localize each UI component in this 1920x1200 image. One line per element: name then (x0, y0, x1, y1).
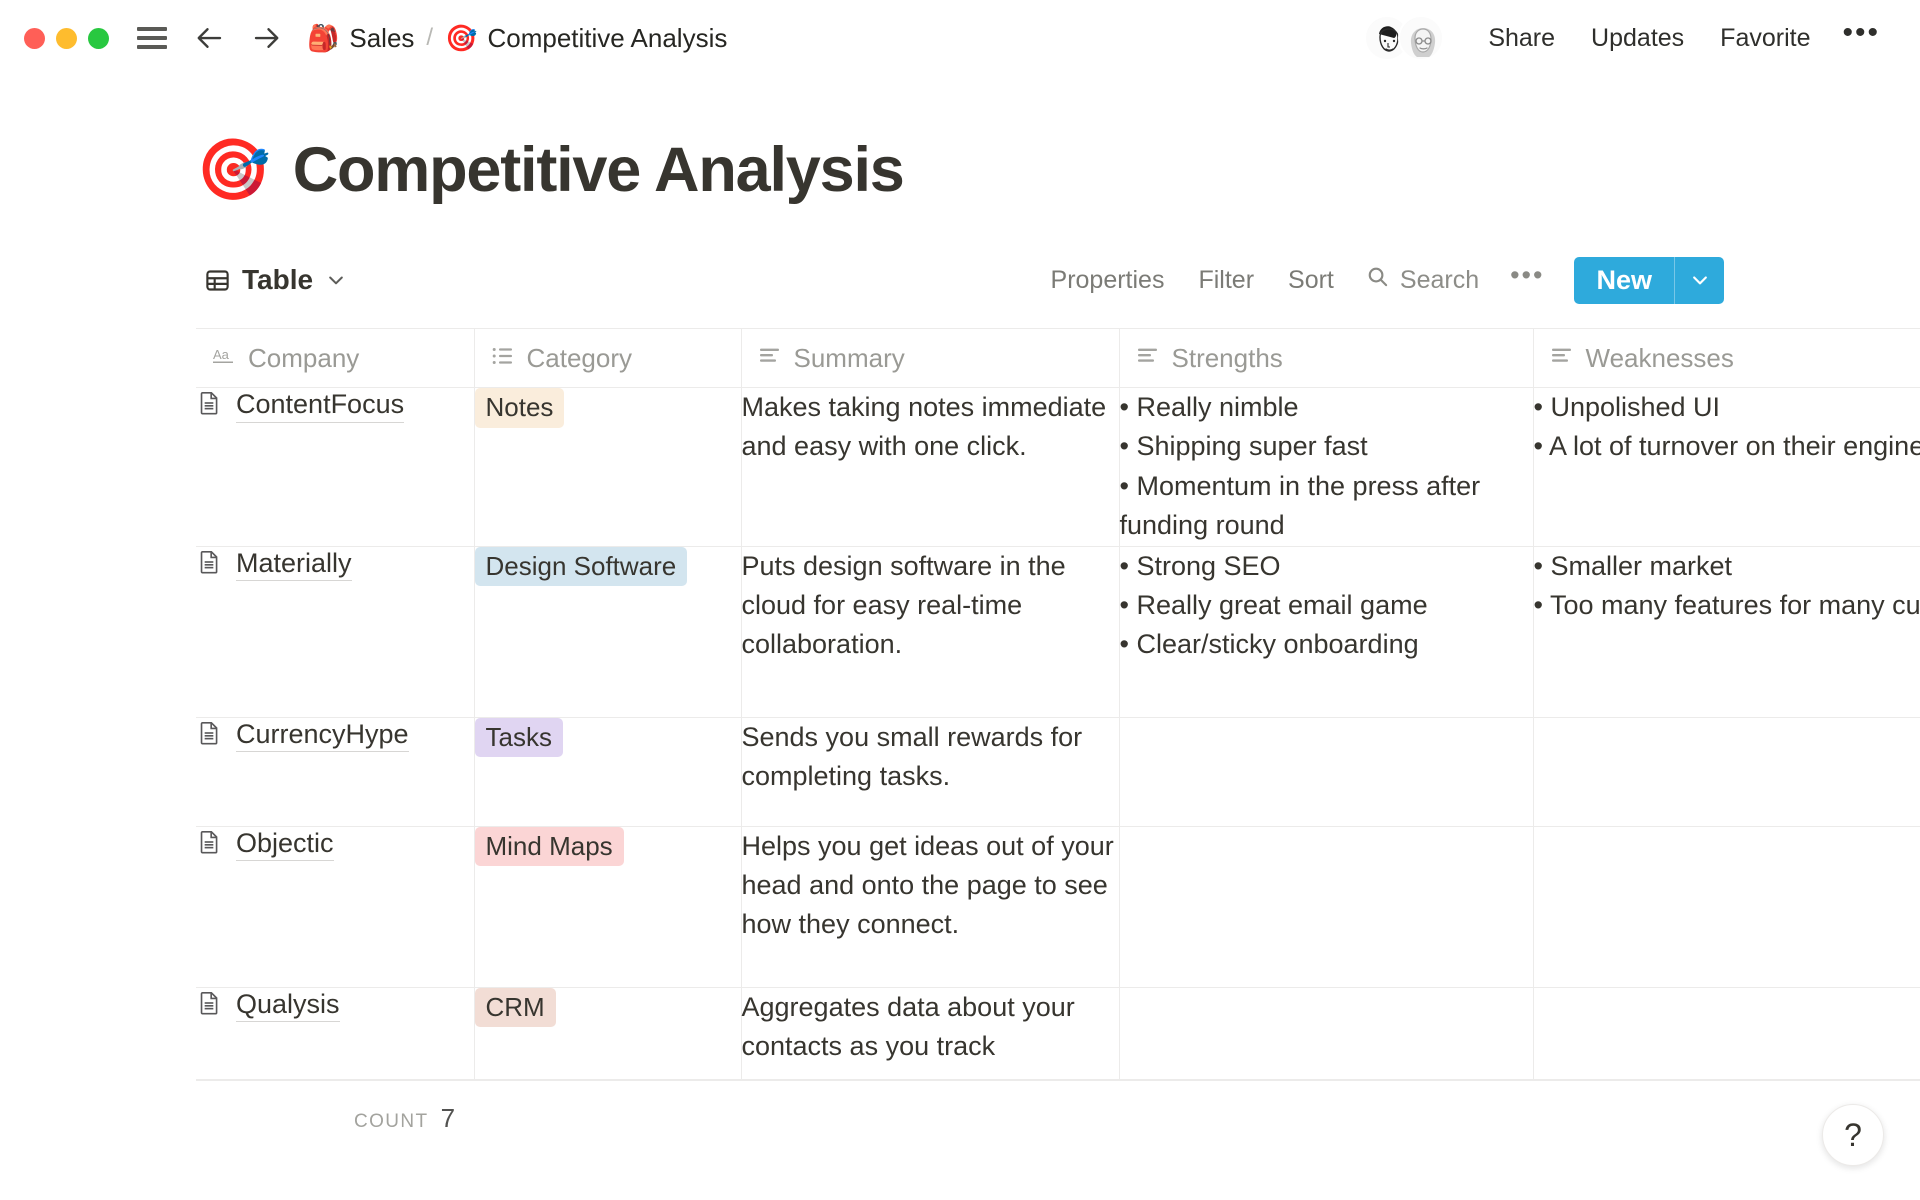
target-icon: 🎯 (445, 25, 477, 51)
search-button[interactable]: Search (1351, 258, 1494, 302)
new-button-group[interactable]: New (1574, 257, 1724, 304)
cell-strengths[interactable]: • Strong SEO• Really great email game• C… (1119, 546, 1533, 717)
cell-summary[interactable]: Makes taking notes immediate and easy wi… (741, 388, 1119, 547)
column-header-company[interactable]: Aa Company (196, 329, 474, 388)
page-title-row: 🎯 Competitive Analysis (0, 76, 1920, 206)
column-header-strengths[interactable]: Strengths (1119, 329, 1533, 388)
table-body: ContentFocusNotesMakes taking notes imme… (196, 388, 1920, 1080)
select-list-icon (491, 344, 515, 373)
navigation-arrows (193, 21, 283, 55)
summary-text: Aggregates data about your contacts as y… (742, 988, 1119, 1067)
category-tag: Mind Maps (475, 827, 624, 867)
header-actions: Share Updates Favorite ••• (1364, 15, 1894, 61)
text-lines-icon (1550, 344, 1574, 373)
more-options-icon[interactable]: ••• (1828, 25, 1894, 52)
backpack-icon: 🎒 (307, 25, 339, 51)
company-name[interactable]: ContentFocus (236, 388, 404, 423)
svg-text:Aa: Aa (213, 347, 230, 362)
column-header-summary[interactable]: Summary (741, 329, 1119, 388)
cell-company[interactable]: ContentFocus (196, 388, 474, 547)
category-tag: CRM (475, 988, 556, 1028)
toolbar-more-icon[interactable]: ••• (1494, 270, 1560, 291)
column-header-label: Strengths (1172, 343, 1283, 374)
cell-category[interactable]: Notes (474, 388, 741, 547)
breadcrumb-current-label: Competitive Analysis (487, 23, 727, 54)
cell-company[interactable]: Qualysis (196, 987, 474, 1079)
breadcrumb-item-competitive-analysis[interactable]: 🎯 Competitive Analysis (445, 23, 727, 54)
database-toolbar: Table Properties Filter Sort Search ••• (196, 254, 1920, 306)
cell-company[interactable]: Objectic (196, 826, 474, 987)
page-document-icon (196, 829, 222, 860)
zoom-window-button[interactable] (88, 28, 109, 49)
cell-category[interactable]: Mind Maps (474, 826, 741, 987)
window-header: 🎒 Sales / 🎯 Competitive Analysis (0, 0, 1920, 76)
table-row[interactable]: QualysisCRMAggregates data about your co… (196, 987, 1920, 1079)
table-header-row: Aa Company (196, 329, 1920, 388)
cell-strengths[interactable]: • Really nimble• Shipping super fast• Mo… (1119, 388, 1533, 547)
text-lines-icon (1136, 344, 1160, 373)
database-table-wrapper: Aa Company (196, 328, 1920, 1080)
cell-company[interactable]: CurrencyHype (196, 717, 474, 826)
page-document-icon (196, 990, 222, 1021)
breadcrumb: 🎒 Sales / 🎯 Competitive Analysis (307, 23, 727, 54)
column-header-label: Company (248, 343, 359, 374)
summary-text: Makes taking notes immediate and easy wi… (742, 388, 1119, 467)
summary-text: Puts design software in the cloud for ea… (742, 547, 1119, 665)
table-row[interactable]: ContentFocusNotesMakes taking notes imme… (196, 388, 1920, 547)
cell-category[interactable]: Design Software (474, 546, 741, 717)
breadcrumb-separator: / (424, 24, 435, 52)
chevron-down-icon (326, 270, 346, 290)
minimize-window-button[interactable] (56, 28, 77, 49)
company-name[interactable]: Materially (236, 547, 352, 582)
category-tag: Notes (475, 388, 565, 428)
help-button[interactable]: ? (1822, 1104, 1884, 1166)
back-arrow-icon[interactable] (193, 21, 227, 55)
table-footer: COUNT 7 (196, 1080, 1920, 1134)
new-button[interactable]: New (1574, 257, 1674, 304)
database-table: Aa Company (196, 328, 1920, 1080)
cell-strengths[interactable] (1119, 717, 1533, 826)
favorite-button[interactable]: Favorite (1702, 18, 1828, 59)
cell-strengths[interactable] (1119, 987, 1533, 1079)
category-tag: Design Software (475, 547, 688, 587)
column-header-weaknesses[interactable]: Weaknesses (1533, 329, 1920, 388)
toolbar-right-actions: Properties Filter Sort Search ••• New (1034, 257, 1724, 304)
sort-button[interactable]: Sort (1271, 259, 1351, 302)
updates-button[interactable]: Updates (1573, 18, 1702, 59)
properties-button[interactable]: Properties (1034, 259, 1182, 302)
traffic-lights (24, 28, 109, 49)
count-label: COUNT (354, 1111, 429, 1133)
text-lines-icon (758, 344, 782, 373)
view-tab-label: Table (242, 264, 313, 296)
table-row[interactable]: ObjecticMind MapsHelps you get ideas out… (196, 826, 1920, 987)
forward-arrow-icon[interactable] (249, 21, 283, 55)
cell-weaknesses[interactable]: • Unpolished UI• A lot of turnover on th… (1533, 388, 1920, 547)
page-title[interactable]: Competitive Analysis (293, 134, 904, 206)
page-body: 🎯 Competitive Analysis Table Propertie (0, 76, 1920, 1134)
table-row[interactable]: CurrencyHypeTasksSends you small rewards… (196, 717, 1920, 826)
page-document-icon (196, 720, 222, 751)
page-target-icon[interactable]: 🎯 (196, 140, 271, 200)
column-header-label: Summary (794, 343, 905, 374)
breadcrumb-item-sales[interactable]: 🎒 Sales (307, 23, 414, 54)
strengths-text: • Strong SEO• Really great email game• C… (1120, 547, 1533, 665)
strengths-text: • Really nimble• Shipping super fast• Mo… (1120, 388, 1533, 546)
count-value[interactable]: 7 (441, 1103, 455, 1134)
cell-weaknesses[interactable] (1533, 826, 1920, 987)
close-window-button[interactable] (24, 28, 45, 49)
weaknesses-text: • Smaller market• Too many features for … (1534, 547, 1920, 626)
view-tab-table[interactable]: Table (196, 260, 354, 300)
cell-weaknesses[interactable]: • Smaller market• Too many features for … (1533, 546, 1920, 717)
cell-weaknesses[interactable] (1533, 987, 1920, 1079)
summary-text: Helps you get ideas out of your head and… (742, 827, 1119, 945)
search-icon (1366, 265, 1389, 295)
cell-weaknesses[interactable] (1533, 717, 1920, 826)
collaborator-avatars[interactable] (1364, 15, 1444, 61)
cell-summary[interactable]: Aggregates data about your contacts as y… (741, 987, 1119, 1079)
company-name[interactable]: Qualysis (236, 988, 340, 1023)
company-name[interactable]: Objectic (236, 827, 334, 862)
page-document-icon (196, 549, 222, 580)
category-tag: Tasks (475, 718, 563, 758)
cell-category[interactable]: CRM (474, 987, 741, 1079)
cell-summary[interactable]: Puts design software in the cloud for ea… (741, 546, 1119, 717)
weaknesses-text: • Unpolished UI• A lot of turnover on th… (1534, 388, 1920, 467)
summary-text: Sends you small rewards for completing t… (742, 718, 1119, 797)
filter-button[interactable]: Filter (1181, 259, 1271, 302)
search-label: Search (1400, 266, 1479, 295)
column-header-label: Weaknesses (1586, 343, 1734, 374)
company-name[interactable]: CurrencyHype (236, 718, 409, 753)
title-text-icon: Aa (212, 344, 236, 373)
cell-strengths[interactable] (1119, 826, 1533, 987)
column-header-category[interactable]: Category (474, 329, 741, 388)
table-icon (204, 267, 231, 294)
cell-category[interactable]: Tasks (474, 717, 741, 826)
cell-company[interactable]: Materially (196, 546, 474, 717)
hamburger-menu-icon[interactable] (137, 27, 167, 49)
cell-summary[interactable]: Sends you small rewards for completing t… (741, 717, 1119, 826)
cell-summary[interactable]: Helps you get ideas out of your head and… (741, 826, 1119, 987)
table-row[interactable]: MateriallyDesign SoftwarePuts design sof… (196, 546, 1920, 717)
breadcrumb-parent-label: Sales (349, 23, 414, 54)
column-header-label: Category (527, 343, 633, 374)
share-button[interactable]: Share (1470, 18, 1573, 59)
page-document-icon (196, 390, 222, 421)
avatar-user-2[interactable] (1398, 15, 1444, 61)
new-dropdown-caret-icon[interactable] (1674, 257, 1724, 304)
